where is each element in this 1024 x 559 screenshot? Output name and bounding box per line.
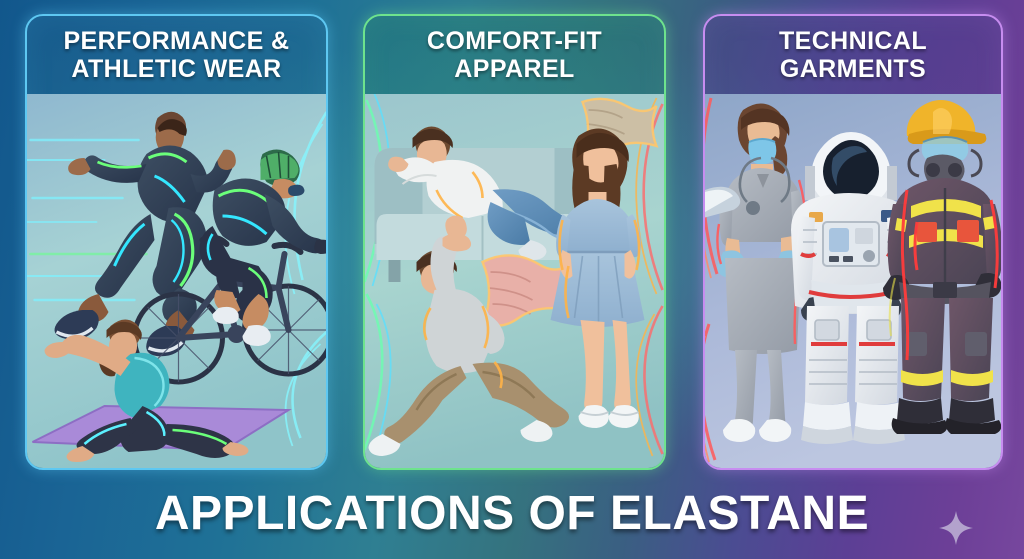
panel-performance-athletic-wear[interactable]: PERFORMANCE & ATHLETIC WEAR xyxy=(25,14,328,470)
panel-technical-garments[interactable]: TECHNICAL GARMENTS xyxy=(703,14,1003,470)
four-point-star-icon xyxy=(938,510,974,546)
panel-0-header: PERFORMANCE & ATHLETIC WEAR xyxy=(27,16,326,94)
panel-1-illustration xyxy=(365,94,664,468)
panel-comfort-fit-apparel[interactable]: COMFORT-FIT APPAREL xyxy=(363,14,666,470)
page-title: APPLICATIONS OF ELASTANE xyxy=(0,478,1024,548)
panel-0-illustration xyxy=(27,94,326,468)
panel-2-header: TECHNICAL GARMENTS xyxy=(705,16,1001,94)
panel-2-title-line2: GARMENTS xyxy=(780,55,926,83)
panel-2-title-line1: TECHNICAL xyxy=(779,27,927,55)
panel-1-title-line2: APPAREL xyxy=(454,55,574,83)
panel-1-header: COMFORT-FIT APPAREL xyxy=(365,16,664,94)
panel-1-title-line1: COMFORT-FIT xyxy=(427,27,602,55)
panel-2-illustration xyxy=(705,94,1001,468)
panel-0-title-line1: PERFORMANCE & xyxy=(63,27,289,55)
panel-0-title-line2: ATHLETIC WEAR xyxy=(71,55,281,83)
